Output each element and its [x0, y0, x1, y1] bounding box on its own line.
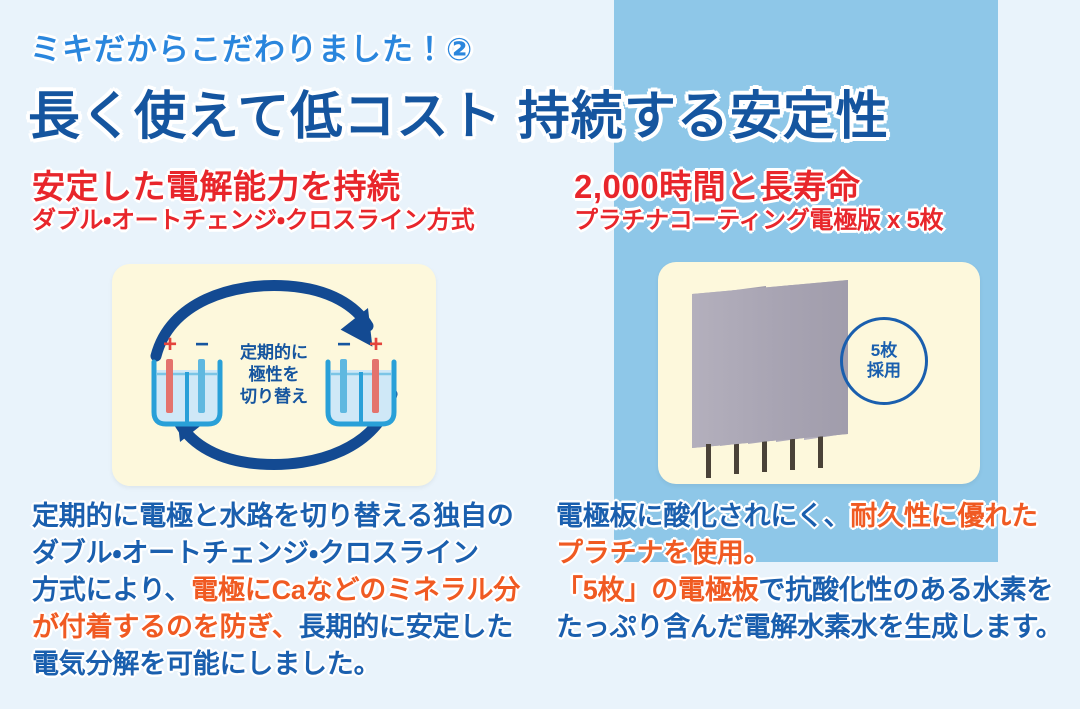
right-section-heading: 2,000時間と長寿命 プラチナコーティング電極版 x 5枚	[574, 168, 943, 236]
polarity-switch-illustration-card: + − − + 定期的に 極性を 切り替え	[112, 264, 436, 486]
text-run: ダブル・オートチェンジ・クロスライン	[32, 538, 479, 568]
beaker-right-plus-sign: +	[369, 331, 383, 358]
text-run: 定期的に電極と水路を切り替える独自の	[32, 501, 514, 531]
left-heading-line1: 安定した電解能力を持続	[32, 168, 474, 206]
electrode-plates-diagram	[658, 262, 980, 484]
badge-line2: 採用	[867, 361, 901, 381]
body-line: が付着するのを防ぎ、長期的に安定した	[32, 609, 520, 646]
slide-canvas: ミキだからこだわりました！② 長く使えて低コスト 持続する安定性 安定した電解能…	[0, 0, 1080, 709]
left-body-text: 定期的に電極と水路を切り替える独自のダブル・オートチェンジ・クロスライン方式によ…	[32, 498, 520, 683]
beaker-right	[328, 359, 394, 424]
body-line: たっぷり含んだ電解水素水を生成します。	[556, 609, 1063, 646]
right-heading-line1: 2,000時間と長寿命	[574, 168, 943, 206]
electrode-plates-illustration-card: 5枚 採用	[658, 262, 980, 484]
body-line: ダブル・オートチェンジ・クロスライン	[32, 535, 520, 572]
body-line: 電気分解を可能にしました。	[32, 646, 520, 683]
plate-1	[692, 280, 848, 478]
left-heading-line2: ダブル・オートチェンジ・クロスライン方式	[32, 206, 474, 236]
body-line: 電極板に酸化されにく、耐久性に優れた	[556, 498, 1063, 535]
text-run: で抗酸化性のある水素を	[758, 575, 1053, 605]
beaker-right-minus-sign: −	[337, 331, 351, 358]
page-title: 長く使えて低コスト 持続する安定性	[28, 74, 889, 149]
cycle-center-label: 定期的に 極性を 切り替え	[240, 342, 308, 408]
five-plates-badge: 5枚 採用	[840, 317, 928, 405]
kicker-text: ミキだからこだわりました！②	[30, 24, 473, 69]
right-heading-line2: プラチナコーティング電極版 x 5枚	[574, 206, 943, 236]
text-run: 長期的に安定した	[299, 612, 513, 642]
left-section-heading: 安定した電解能力を持続 ダブル・オートチェンジ・クロスライン方式	[32, 168, 474, 236]
text-run: 電極板に酸化されにく、	[556, 501, 850, 531]
badge-line1: 5枚	[871, 341, 897, 361]
highlighted-run: 電極にCaなどのミネラル分	[191, 575, 520, 605]
highlighted-run: 「5枚」の電極板	[556, 575, 758, 605]
cycle-label-line2: 極性を	[240, 364, 308, 386]
text-run: 電気分解を可能にしました。	[32, 649, 380, 679]
beaker-left-plus-sign: +	[163, 331, 177, 358]
body-line: プラチナを使用。	[556, 535, 1063, 572]
cycle-label-line3: 切り替え	[240, 386, 308, 408]
cycle-label-line1: 定期的に	[240, 342, 308, 364]
body-line: 「5枚」の電極板で抗酸化性のある水素を	[556, 572, 1063, 609]
body-line: 定期的に電極と水路を切り替える独自の	[32, 498, 520, 535]
right-body-text: 電極板に酸化されにく、耐久性に優れたプラチナを使用。「5枚」の電極板で抗酸化性の…	[556, 498, 1063, 646]
highlighted-run: プラチナを使用。	[556, 538, 770, 568]
text-run: 方式により、	[32, 575, 191, 605]
highlighted-run: が付着するのを防ぎ、	[32, 612, 299, 642]
text-run: たっぷり含んだ電解水素水を生成します。	[556, 612, 1063, 642]
beaker-left-minus-sign: −	[195, 331, 209, 358]
beaker-left	[154, 359, 220, 424]
highlighted-run: 耐久性に優れた	[850, 501, 1038, 531]
body-line: 方式により、電極にCaなどのミネラル分	[32, 572, 520, 609]
